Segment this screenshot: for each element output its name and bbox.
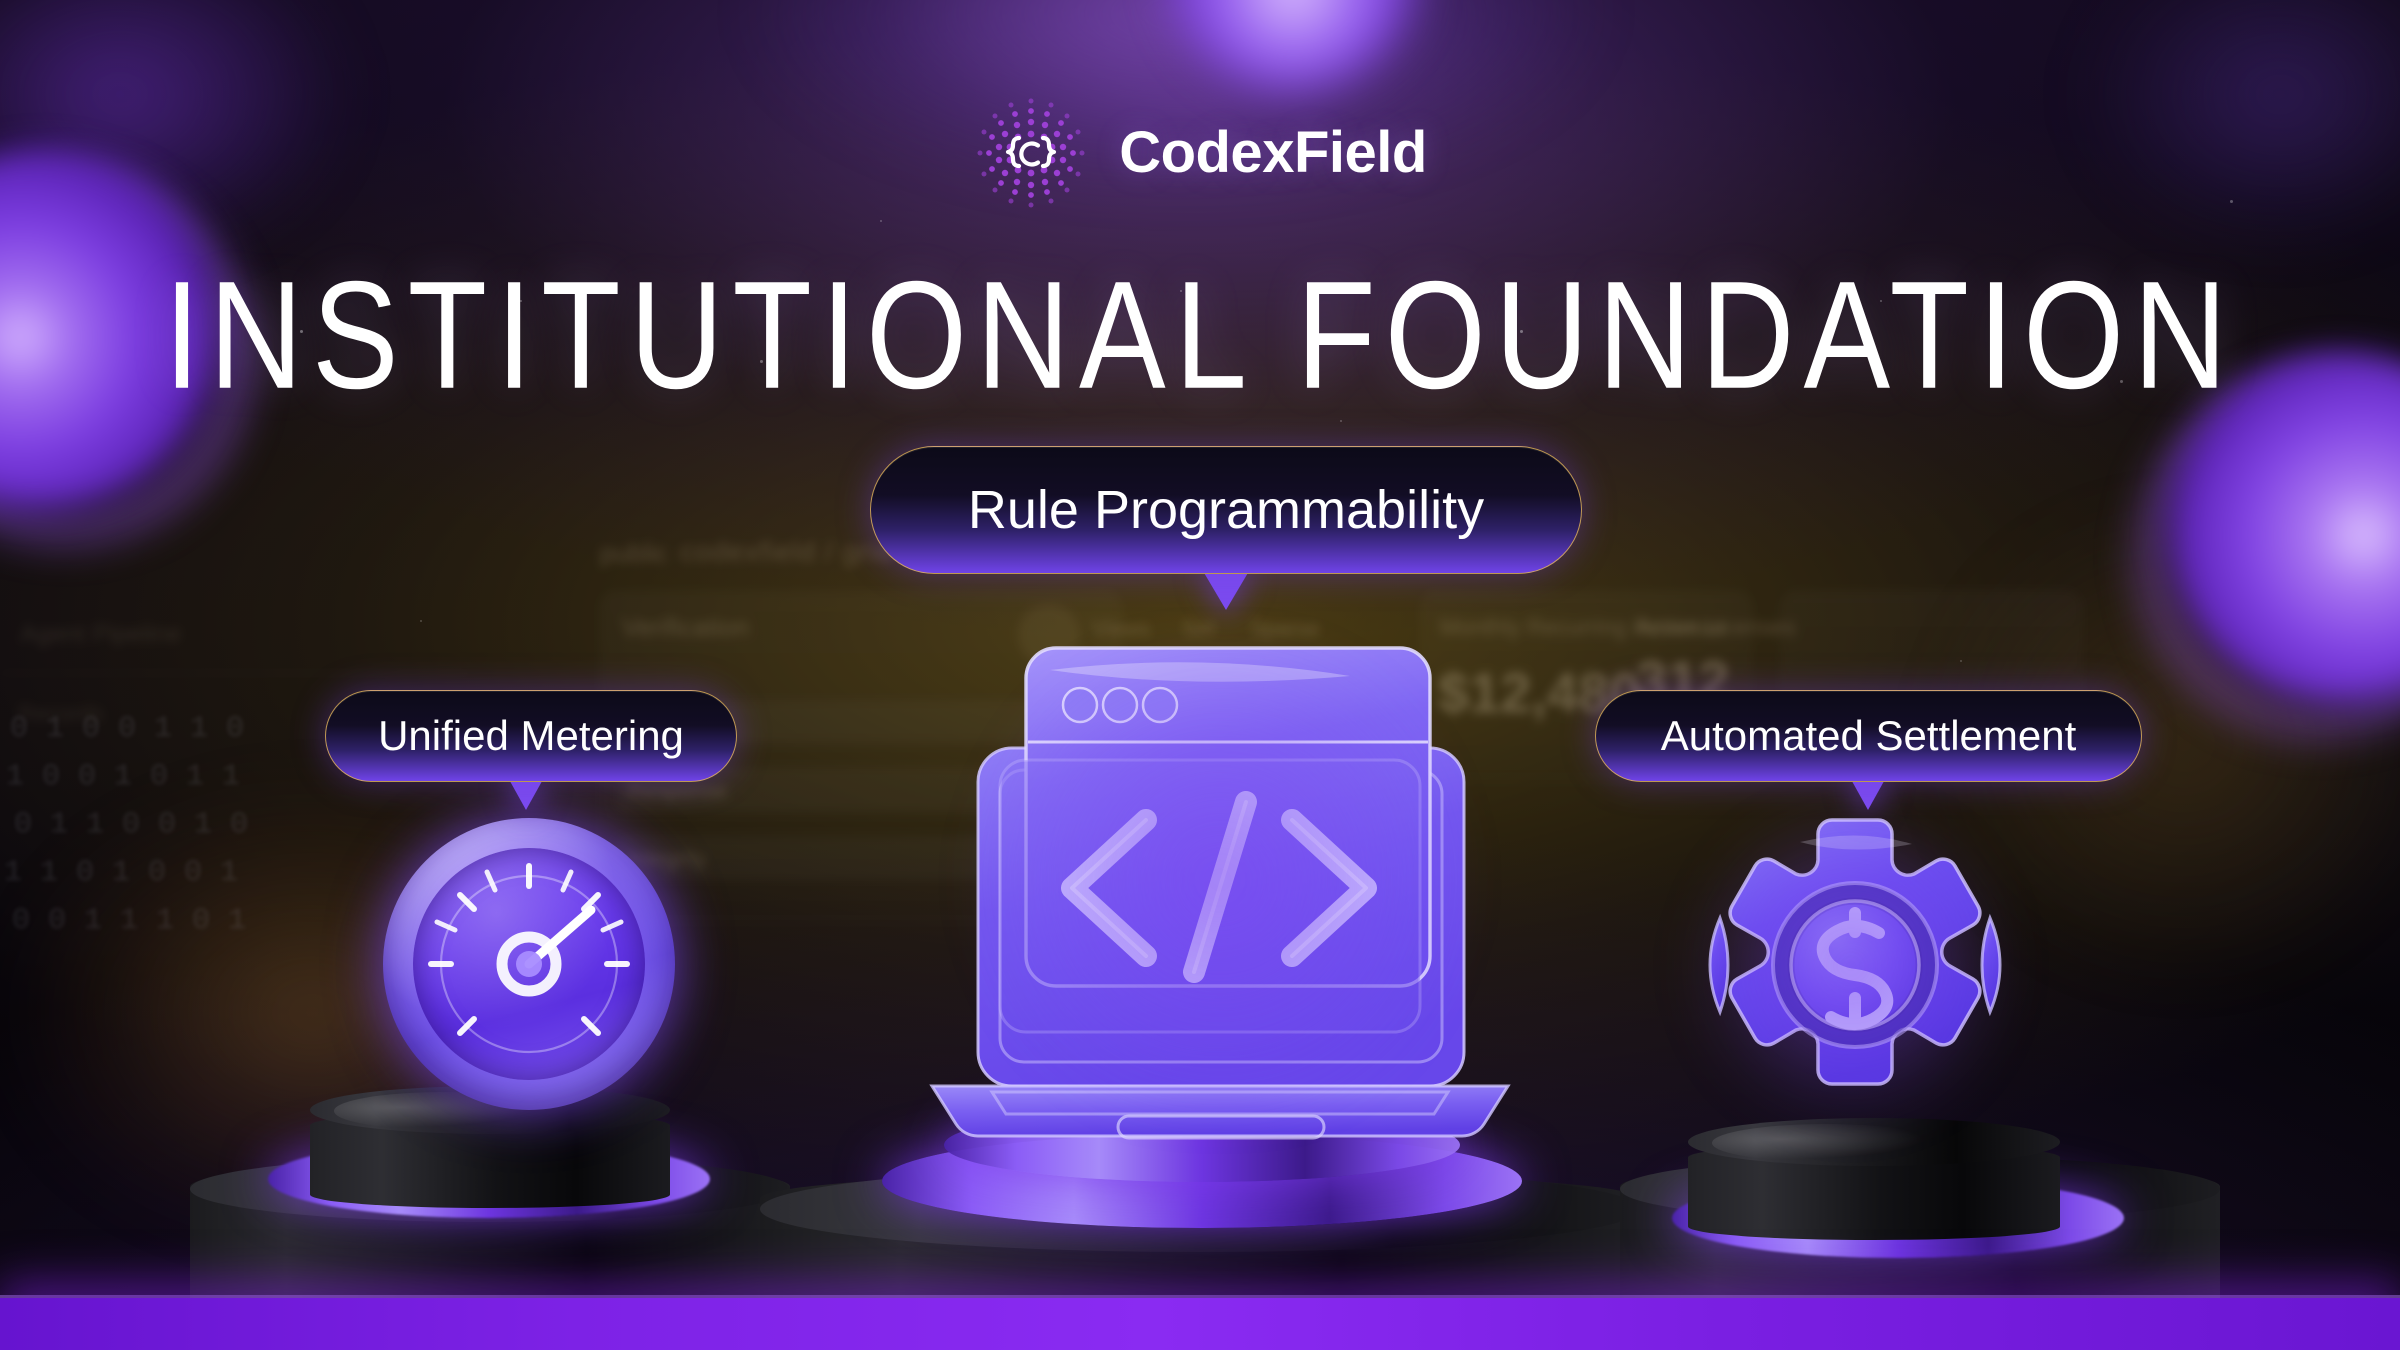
pill-rule-programmability[interactable]: Rule Programmability xyxy=(870,446,1582,574)
gauge-meter-icon xyxy=(365,818,695,1118)
poster-canvas: public codexfield / grid Verification Ar… xyxy=(0,0,2400,1350)
pill-automated-settlement[interactable]: Automated Settlement xyxy=(1595,690,2142,782)
code-window-icon xyxy=(920,620,1520,1140)
pill-unified-metering[interactable]: Unified Metering xyxy=(325,690,737,782)
podium-right-top xyxy=(1688,1118,2060,1258)
floor-strip xyxy=(0,1298,2400,1350)
gear-dollar-icon xyxy=(1680,800,2030,1130)
